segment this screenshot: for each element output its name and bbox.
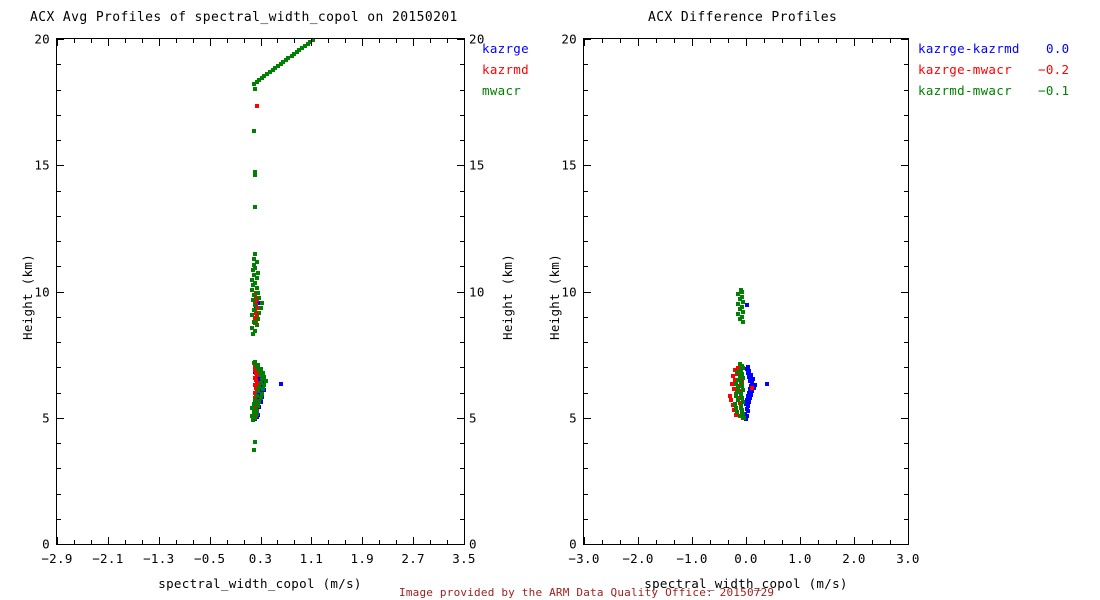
yaxis-minor-tick — [584, 317, 588, 318]
data-point-kazrmd-mwacr — [736, 302, 740, 306]
data-point-mwacr — [252, 257, 256, 261]
data-point-mwacr — [255, 394, 259, 398]
xaxis-minor-tick-top — [890, 39, 891, 43]
data-point-kazrmd-mwacr — [740, 290, 744, 294]
data-point-kazrmd-mwacr — [736, 398, 740, 402]
xaxis-minor-tick-top — [328, 39, 329, 43]
xaxis-tick-top — [108, 39, 109, 46]
yaxis-tick-label: 0 — [551, 537, 577, 552]
xaxis-minor-tick — [142, 540, 143, 544]
yaxis-tick-right — [457, 165, 464, 166]
data-point-kazrmd-mwacr — [740, 384, 744, 388]
xaxis-tick-label: 0.0 — [734, 551, 757, 566]
xaxis-minor-tick-top — [836, 39, 837, 43]
data-point-mwacr — [253, 252, 257, 256]
data-point-mwacr — [257, 400, 261, 404]
data-point-mwacr — [256, 404, 260, 408]
xaxis-tick-top — [159, 39, 160, 46]
yaxis-minor-tick — [57, 216, 61, 217]
xaxis-tick-label: −0.5 — [194, 551, 225, 566]
yaxis-minor-tick-right — [904, 266, 908, 267]
data-point-mwacr — [261, 387, 265, 391]
data-point-kazrge-kazrmd — [765, 382, 769, 386]
xaxis-minor-tick-top — [656, 39, 657, 43]
yaxis-minor-tick-right — [460, 64, 464, 65]
yaxis-minor-tick — [584, 494, 588, 495]
yaxis-tick-right — [901, 165, 908, 166]
yaxis-minor-tick — [584, 519, 588, 520]
yaxis-minor-tick — [584, 216, 588, 217]
data-point-kazrmd-mwacr — [733, 402, 737, 406]
data-point-kazrmd-mwacr — [739, 288, 743, 292]
yaxis-minor-tick — [584, 241, 588, 242]
data-point-kazrmd-mwacr — [742, 416, 746, 420]
data-point-kazrmd — [255, 104, 259, 108]
data-point-kazrmd-mwacr — [738, 374, 742, 378]
data-point-kazrmd-mwacr — [736, 292, 740, 296]
data-point-mwacr — [256, 363, 260, 367]
xaxis-minor-tick — [872, 540, 873, 544]
data-point-mwacr — [252, 402, 256, 406]
yaxis-tick — [57, 292, 64, 293]
data-point-kazrge-mwacr — [735, 372, 739, 376]
xaxis-tick-top — [210, 39, 211, 46]
data-point-kazrge-kazrmd — [746, 394, 750, 398]
xaxis-minor-tick — [294, 540, 295, 544]
data-point-kazrge-kazrmd — [744, 402, 748, 406]
data-point-kazrge-mwacr — [733, 368, 737, 372]
data-point-mwacr — [256, 317, 260, 321]
data-point-kazrge-mwacr — [732, 387, 736, 391]
xaxis-tick-top — [261, 39, 262, 46]
legend-value-kazrge-mwacr: −0.2 — [1038, 59, 1069, 80]
data-point-mwacr — [262, 375, 266, 379]
data-point-kazrmd-mwacr — [738, 307, 742, 311]
yaxis-minor-tick-right — [460, 216, 464, 217]
data-point-mwacr — [250, 288, 254, 292]
data-point-kazrge-kazrmd — [747, 375, 751, 379]
xaxis-minor-tick-top — [818, 39, 819, 43]
yaxis-tick-label-right: 5 — [469, 410, 477, 425]
data-point-kazrge-kazrmd — [748, 379, 752, 383]
data-point-kazrge-mwacr — [736, 366, 740, 370]
xaxis-tick-label: −1.0 — [676, 551, 707, 566]
xaxis-minor-tick-top — [430, 39, 431, 43]
yaxis-tick-right — [457, 292, 464, 293]
data-point-mwacr — [264, 379, 268, 383]
yaxis-minor-tick-right — [460, 494, 464, 495]
xaxis-minor-tick — [890, 540, 891, 544]
data-point-kazrge-kazrmd — [745, 398, 749, 402]
data-point-kazrmd-mwacr — [739, 368, 743, 372]
xaxis-minor-tick — [193, 540, 194, 544]
yaxis-minor-tick — [57, 494, 61, 495]
yaxis-tick-right — [457, 418, 464, 419]
xaxis-minor-tick — [91, 540, 92, 544]
data-point-kazrge-kazrmd — [745, 303, 749, 307]
yaxis-tick-label: 5 — [551, 410, 577, 425]
data-point-mwacr — [253, 87, 257, 91]
data-point-kazrmd-mwacr — [736, 386, 740, 390]
xaxis-minor-tick — [818, 540, 819, 544]
xaxis-minor-tick — [764, 540, 765, 544]
yaxis-tick — [584, 165, 591, 166]
xaxis-tick — [311, 537, 312, 544]
yaxis-minor-tick-right — [460, 367, 464, 368]
legend-label-kazrmd-mwacr: kazrmd-mwacr — [918, 80, 1012, 101]
data-point-kazrmd-mwacr — [734, 394, 738, 398]
xaxis-tick-label: −2.1 — [92, 551, 123, 566]
legend-label-kazrge-mwacr: kazrge-mwacr — [918, 59, 1012, 80]
data-point-mwacr — [259, 367, 263, 371]
yaxis-minor-tick-right — [904, 216, 908, 217]
xaxis-tick-label: −3.0 — [568, 551, 599, 566]
xaxis-tick-top — [854, 39, 855, 46]
yaxis-minor-tick-right — [904, 90, 908, 91]
xaxis-tick-label: 3.5 — [452, 551, 475, 566]
yaxis-minor-tick-right — [904, 494, 908, 495]
data-point-kazrmd-mwacr — [738, 317, 742, 321]
xaxis-tick-top — [413, 39, 414, 46]
yaxis-minor-tick — [57, 115, 61, 116]
xaxis-tick-top — [57, 39, 58, 46]
yaxis-minor-tick-right — [460, 468, 464, 469]
yaxis-minor-tick — [57, 241, 61, 242]
yaxis-minor-tick-right — [904, 241, 908, 242]
data-point-kazrmd-mwacr — [741, 376, 745, 380]
legend-value-kazrge-kazrmd: 0.0 — [1046, 38, 1069, 59]
data-point-kazrmd-mwacr — [740, 408, 744, 412]
xaxis-tick — [108, 537, 109, 544]
xaxis-tick-top — [464, 39, 465, 46]
xaxis-tick — [413, 537, 414, 544]
yaxis-minor-tick-right — [904, 367, 908, 368]
legend-label-kazrge-kazrmd: kazrge-kazrmd — [918, 38, 1020, 59]
data-point-kazrmd-mwacr — [734, 406, 738, 410]
data-point-kazrge-mwacr — [750, 386, 754, 390]
xaxis-minor-tick-top — [620, 39, 621, 43]
data-point-kazrge-mwacr — [740, 411, 744, 415]
data-point-kazrge-kazrmd — [743, 412, 747, 416]
yaxis-minor-tick — [57, 317, 61, 318]
xaxis-tick-label: 1.1 — [300, 551, 323, 566]
yaxis-minor-tick — [57, 443, 61, 444]
data-point-kazrge-kazrmd — [744, 417, 748, 421]
data-point-mwacr — [253, 205, 257, 209]
xaxis-tick — [159, 537, 160, 544]
yaxis-minor-tick-right — [460, 342, 464, 343]
xaxis-tick — [746, 537, 747, 544]
xaxis-minor-tick — [277, 540, 278, 544]
xaxis-minor-tick — [345, 540, 346, 544]
xaxis-tick-top — [746, 39, 747, 46]
xaxis-minor-tick-top — [294, 39, 295, 43]
data-point-kazrmd-mwacr — [736, 312, 740, 316]
xaxis-tick-top — [638, 39, 639, 46]
xaxis-minor-tick-top — [193, 39, 194, 43]
yaxis-minor-tick-right — [460, 241, 464, 242]
yaxis-tick — [584, 292, 591, 293]
data-point-kazrge-kazrmd — [753, 383, 757, 387]
xaxis-minor-tick — [74, 540, 75, 544]
data-point-mwacr — [253, 360, 257, 364]
xaxis-tick-label: 1.9 — [351, 551, 374, 566]
yaxis-minor-tick — [584, 367, 588, 368]
xaxis-tick-label: −1.3 — [143, 551, 174, 566]
yaxis-minor-tick-right — [904, 468, 908, 469]
yaxis-minor-tick — [584, 140, 588, 141]
data-point-kazrge-kazrmd — [745, 367, 749, 371]
yaxis-minor-tick — [57, 342, 61, 343]
yaxis-minor-tick-right — [460, 443, 464, 444]
data-point-kazrge-kazrmd — [746, 404, 750, 408]
data-point-kazrmd-mwacr — [740, 396, 744, 400]
yaxis-tick — [584, 544, 591, 545]
yaxis-tick — [57, 39, 64, 40]
data-point-kazrge-kazrmd — [747, 369, 751, 373]
yaxis-tick-label: 10 — [551, 284, 577, 299]
data-point-kazrmd-mwacr — [738, 414, 742, 418]
xaxis-tick-top — [800, 39, 801, 46]
xaxis-minor-tick-top — [602, 39, 603, 43]
yaxis-minor-tick — [57, 191, 61, 192]
xaxis-minor-tick-top — [782, 39, 783, 43]
xaxis-tick-label: 0.3 — [249, 551, 272, 566]
xaxis-minor-tick — [782, 540, 783, 544]
data-point-kazrge-mwacr — [738, 401, 742, 405]
legend-label-kazrmd: kazrmd — [482, 59, 529, 80]
right-plot-legend: kazrge-kazrmd 0.0 kazrge-mwacr −0.2 kazr… — [918, 38, 1098, 101]
data-point-mwacr — [253, 416, 257, 420]
xaxis-minor-tick — [710, 540, 711, 544]
yaxis-tick-label: 0 — [24, 537, 50, 552]
data-point-kazrge-mwacr — [734, 392, 738, 396]
data-point-kazrmd-mwacr — [741, 366, 745, 370]
yaxis-minor-tick-right — [904, 393, 908, 394]
xaxis-minor-tick-top — [125, 39, 126, 43]
xaxis-minor-tick-top — [674, 39, 675, 43]
xaxis-minor-tick-top — [176, 39, 177, 43]
data-point-kazrge-kazrmd — [746, 371, 750, 375]
data-point-kazrge-mwacr — [728, 394, 732, 398]
yaxis-tick — [57, 418, 64, 419]
xaxis-tick — [908, 537, 909, 544]
yaxis-minor-tick-right — [904, 342, 908, 343]
yaxis-tick-label: 15 — [24, 158, 50, 173]
data-point-mwacr — [257, 385, 261, 389]
data-point-mwacr — [257, 296, 261, 300]
data-point-kazrmd-mwacr — [735, 410, 739, 414]
yaxis-minor-tick — [57, 393, 61, 394]
data-point-mwacr — [252, 308, 256, 312]
xaxis-minor-tick — [674, 540, 675, 544]
yaxis-minor-tick-right — [904, 317, 908, 318]
xaxis-tick — [638, 537, 639, 544]
yaxis-minor-tick — [57, 140, 61, 141]
xaxis-minor-tick — [728, 540, 729, 544]
data-point-kazrge-mwacr — [734, 413, 738, 417]
yaxis-minor-tick — [584, 64, 588, 65]
yaxis-tick-right — [901, 39, 908, 40]
xaxis-minor-tick — [430, 540, 431, 544]
yaxis-tick-label: 20 — [24, 32, 50, 47]
data-point-kazrge-mwacr — [740, 380, 744, 384]
data-point-kazrge-kazrmd — [749, 393, 753, 397]
data-point-kazrge-kazrmd — [745, 414, 749, 418]
left-yaxis-title: Height (km) — [20, 254, 35, 340]
data-point-kazrge-mwacr — [736, 396, 740, 400]
xaxis-tick-top — [311, 39, 312, 46]
xaxis-tick-label: −2.9 — [41, 551, 72, 566]
data-point-mwacr — [250, 414, 254, 418]
yaxis-minor-tick — [584, 191, 588, 192]
yaxis-minor-tick — [584, 393, 588, 394]
xaxis-tick-top — [584, 39, 585, 46]
xaxis-minor-tick-top — [142, 39, 143, 43]
xaxis-minor-tick — [244, 540, 245, 544]
yaxis-tick — [57, 165, 64, 166]
data-point-kazrmd-mwacr — [739, 392, 743, 396]
yaxis-tick-right — [901, 544, 908, 545]
data-point-mwacr — [256, 291, 260, 295]
yaxis-tick-label-right: 0 — [469, 537, 477, 552]
xaxis-tick — [210, 537, 211, 544]
data-point-kazrge-mwacr — [732, 408, 736, 412]
data-point-kazrmd-mwacr — [739, 404, 743, 408]
right-panel-title: ACX Difference Profiles — [648, 10, 837, 25]
yaxis-minor-tick — [57, 468, 61, 469]
data-point-mwacr — [261, 371, 265, 375]
yaxis-tick-right — [457, 544, 464, 545]
legend-label-mwacr: mwacr — [482, 80, 521, 101]
data-point-kazrmd-mwacr — [740, 364, 744, 368]
yaxis-minor-tick-right — [460, 266, 464, 267]
data-point-kazrge-mwacr — [741, 416, 745, 420]
data-point-kazrge-kazrmd — [747, 391, 751, 395]
right-plot-frame — [583, 38, 909, 545]
xaxis-minor-tick — [656, 540, 657, 544]
xaxis-minor-tick — [836, 540, 837, 544]
data-point-kazrge-mwacr — [730, 382, 734, 386]
yaxis-minor-tick — [584, 342, 588, 343]
xaxis-tick-label: −2.0 — [622, 551, 653, 566]
data-point-kazrmd-mwacr — [736, 378, 740, 382]
data-point-mwacr — [253, 440, 257, 444]
data-point-kazrge-kazrmd — [751, 377, 755, 381]
data-point-mwacr — [251, 298, 255, 302]
data-point-kazrge-kazrmd — [750, 389, 754, 393]
data-point-mwacr — [255, 260, 259, 264]
data-point-mwacr — [253, 170, 257, 174]
yaxis-minor-tick-right — [460, 191, 464, 192]
xaxis-minor-tick-top — [872, 39, 873, 43]
data-point-mwacr — [257, 311, 261, 315]
yaxis-tick — [57, 544, 64, 545]
data-point-kazrmd-mwacr — [735, 370, 739, 374]
data-point-kazrmd-mwacr — [738, 362, 742, 366]
xaxis-minor-tick — [379, 540, 380, 544]
data-point-kazrmd-mwacr — [740, 315, 744, 319]
yaxis-tick-right — [901, 292, 908, 293]
xaxis-tick-label: 3.0 — [896, 551, 919, 566]
data-point-kazrge-mwacr — [739, 389, 743, 393]
data-point-kazrmd-mwacr — [740, 295, 744, 299]
yaxis-minor-tick — [57, 367, 61, 368]
yaxis-minor-tick-right — [460, 393, 464, 394]
legend-label-kazrge: kazrge — [482, 38, 529, 59]
data-point-kazrge-mwacr — [739, 406, 743, 410]
data-point-mwacr — [262, 383, 266, 387]
yaxis-minor-tick — [57, 90, 61, 91]
xaxis-minor-tick-top — [396, 39, 397, 43]
data-point-mwacr — [256, 271, 260, 275]
xaxis-minor-tick — [602, 540, 603, 544]
xaxis-minor-tick — [125, 540, 126, 544]
data-point-kazrmd-mwacr — [741, 412, 745, 416]
left-panel-title: ACX Avg Profiles of spectral_width_copol… — [30, 10, 458, 25]
yaxis-minor-tick-right — [904, 115, 908, 116]
yaxis-minor-tick-right — [460, 519, 464, 520]
yaxis-minor-tick — [584, 443, 588, 444]
xaxis-tick — [464, 537, 465, 544]
xaxis-tick — [800, 537, 801, 544]
data-point-kazrmd-mwacr — [740, 372, 744, 376]
xaxis-minor-tick-top — [244, 39, 245, 43]
yaxis-tick-right — [457, 39, 464, 40]
yaxis-tick-label-right: 15 — [469, 158, 485, 173]
yaxis-minor-tick-right — [460, 140, 464, 141]
left-xaxis-title: spectral_width_copol (m/s) — [158, 576, 361, 591]
data-point-kazrmd-mwacr — [735, 390, 739, 394]
xaxis-minor-tick — [328, 540, 329, 544]
xaxis-tick-top — [692, 39, 693, 46]
data-point-kazrmd-mwacr — [734, 382, 738, 386]
data-point-mwacr — [259, 396, 263, 400]
left-plot-data-area — [57, 39, 464, 544]
data-point-kazrge-kazrmd — [745, 407, 749, 411]
data-point-kazrge-mwacr — [729, 398, 733, 402]
data-point-kazrmd-mwacr — [741, 320, 745, 324]
yaxis-minor-tick — [584, 468, 588, 469]
data-point-mwacr — [252, 320, 256, 324]
yaxis-minor-tick-right — [460, 90, 464, 91]
data-point-kazrge-kazrmd — [750, 381, 754, 385]
data-point-mwacr — [255, 286, 259, 290]
legend-row: kazrge-kazrmd 0.0 — [918, 38, 1098, 59]
data-point-kazrmd-mwacr — [741, 388, 745, 392]
data-point-kazrge-kazrmd — [747, 400, 751, 404]
data-point-kazrge-mwacr — [733, 378, 737, 382]
xaxis-minor-tick-top — [379, 39, 380, 43]
xaxis-tick-label: 1.0 — [788, 551, 811, 566]
xaxis-minor-tick-top — [74, 39, 75, 43]
xaxis-minor-tick-top — [764, 39, 765, 43]
xaxis-minor-tick-top — [710, 39, 711, 43]
yaxis-tick-label-right: 10 — [469, 284, 485, 299]
xaxis-minor-tick-top — [91, 39, 92, 43]
xaxis-tick — [584, 537, 585, 544]
xaxis-minor-tick-top — [728, 39, 729, 43]
yaxis-minor-tick-right — [904, 191, 908, 192]
yaxis-minor-tick — [57, 266, 61, 267]
data-point-kazrmd-mwacr — [741, 400, 745, 404]
data-point-kazrmd-mwacr — [741, 300, 745, 304]
xaxis-tick — [261, 537, 262, 544]
data-point-kazrmd-mwacr — [740, 305, 744, 309]
data-point-mwacr — [250, 406, 254, 410]
data-point-mwacr — [250, 278, 254, 282]
xaxis-tick — [57, 537, 58, 544]
